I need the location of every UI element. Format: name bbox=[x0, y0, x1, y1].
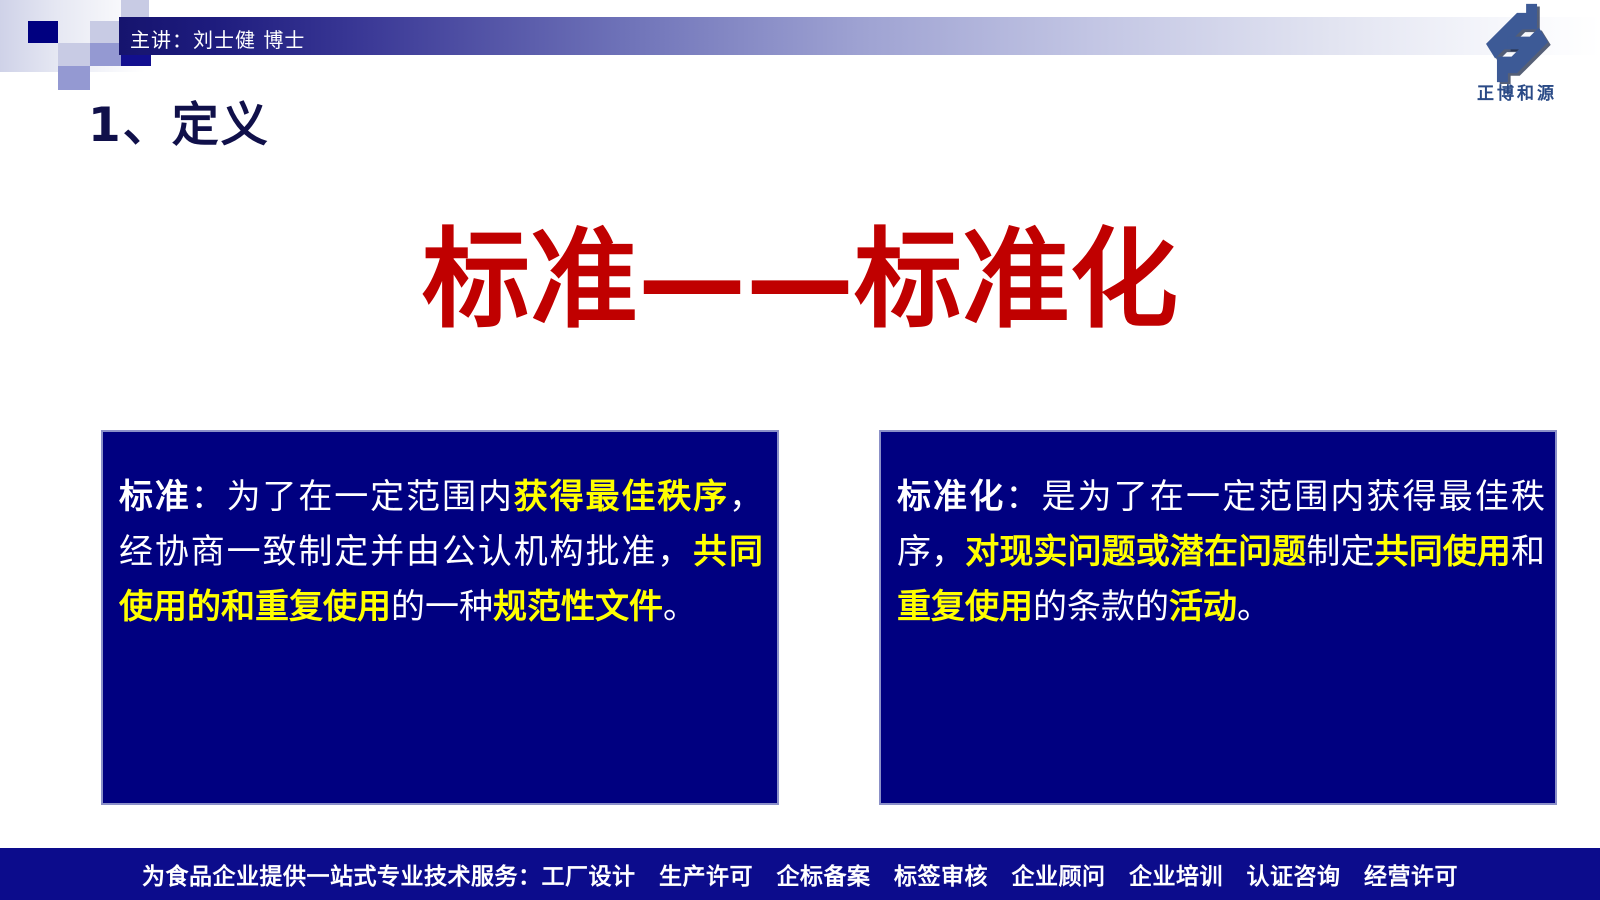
slide-header: 主讲：刘士健 博士 正博和源 bbox=[0, 0, 1600, 90]
presenter-label: 主讲：刘士健 博士 bbox=[130, 24, 305, 53]
text-segment: 和 bbox=[1511, 532, 1545, 572]
text-segment: 制定 bbox=[1306, 532, 1374, 572]
text-segment: ：为了在一定范围内 bbox=[191, 477, 514, 517]
text-segment: 。 bbox=[1237, 587, 1271, 627]
text-segment: 共同使用 bbox=[1375, 532, 1511, 572]
definition-text-standard: 标准：为了在一定范围内获得最佳秩序，经协商一致制定并由公认机构批准，共同使用的和… bbox=[119, 470, 763, 635]
text-segment: 的条款的 bbox=[1033, 587, 1169, 627]
footer-services-text: 为食品企业提供一站式专业技术服务：工厂设计 生产许可 企标备案 标签审核 企业顾… bbox=[142, 857, 1458, 891]
presenter-bar bbox=[119, 17, 1600, 55]
text-segment: 标准 bbox=[119, 477, 191, 517]
decor-square-periwinkle-2 bbox=[90, 43, 121, 66]
text-segment: 活动 bbox=[1169, 587, 1237, 627]
definition-box-standard: 标准：为了在一定范围内获得最佳秩序，经协商一致制定并由公认机构批准，共同使用的和… bbox=[101, 430, 779, 805]
text-segment: 重复使用 bbox=[897, 587, 1033, 627]
text-segment: 的一种 bbox=[391, 587, 493, 627]
main-heading: 标准——标准化 bbox=[0, 222, 1600, 341]
decor-square-periwinkle-3 bbox=[58, 66, 90, 90]
company-name: 正博和源 bbox=[1452, 86, 1582, 103]
text-segment: 标准化 bbox=[897, 477, 1005, 517]
text-segment: 规范性文件 bbox=[493, 587, 663, 627]
slide-root: 主讲：刘士健 博士 正博和源 1、定义 标准——标准化 标准：为了在一定范围内获… bbox=[0, 0, 1600, 900]
text-segment: 对现实问题或潜在问题 bbox=[965, 532, 1306, 572]
decor-square-lavender-2 bbox=[90, 21, 121, 43]
decor-square-lavender-3 bbox=[58, 43, 90, 66]
page-title: 1、定义 bbox=[88, 86, 270, 155]
footer-bar: 为食品企业提供一站式专业技术服务：工厂设计 生产许可 企标备案 标签审核 企业顾… bbox=[0, 848, 1600, 900]
decor-square-navy-1 bbox=[28, 21, 58, 43]
company-logo: 正博和源 bbox=[1452, 2, 1582, 110]
definition-text-standardization: 标准化：是为了在一定范围内获得最佳秩序，对现实问题或潜在问题制定共同使用和重复使… bbox=[897, 470, 1545, 635]
text-segment: 。 bbox=[663, 587, 697, 627]
text-segment: 获得最佳秩序 bbox=[514, 477, 729, 517]
definition-box-standardization: 标准化：是为了在一定范围内获得最佳秩序，对现实问题或潜在问题制定共同使用和重复使… bbox=[879, 430, 1557, 805]
zhengbo-heyuan-logo-icon bbox=[1471, 2, 1563, 84]
